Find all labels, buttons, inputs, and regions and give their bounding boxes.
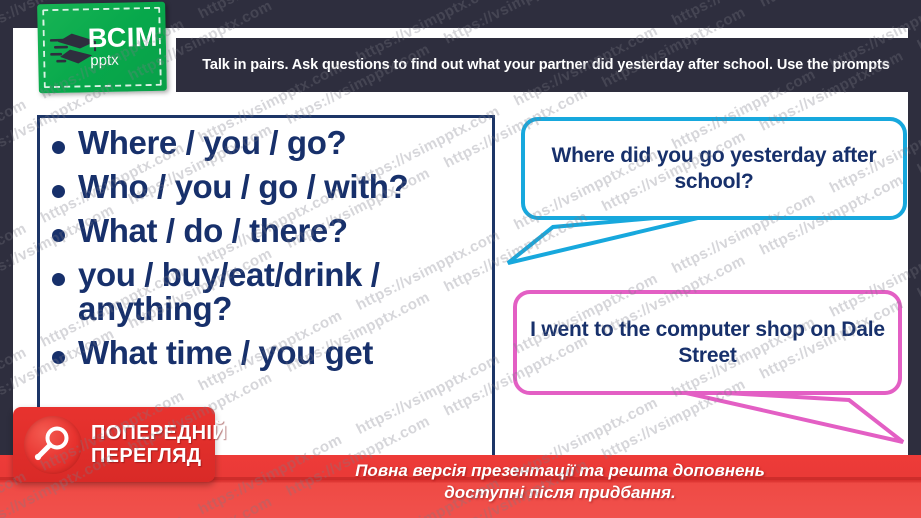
badge-labels: ПОПЕРЕДНІЙ ПЕРЕГЛЯД (91, 423, 227, 466)
badge-circle (24, 416, 82, 474)
frame-strip-left (0, 0, 13, 518)
list-item: What time / you get (50, 336, 488, 370)
prompts-list: Where / you / go? Who / you / go / with?… (40, 118, 492, 370)
logo-main-text: ВСІМ (88, 24, 159, 52)
list-item: you / buy/eat/drink / anything? (50, 258, 488, 326)
answer-bubble: I went to the computer shop on Dale Stre… (513, 290, 902, 395)
list-item: Who / you / go / with? (50, 170, 488, 204)
instruction-banner: Talk in pairs. Ask questions to find out… (176, 38, 916, 92)
logo-wordmark: ВСІМ pptx (88, 24, 159, 68)
answer-bubble-text: I went to the computer shop on Dale Stre… (517, 317, 898, 367)
vsimpptx-logo[interactable]: ВСІМ pptx (37, 2, 167, 94)
purchase-banner-text: Повна версія презентації та решта доповн… (215, 460, 905, 504)
badge-line1: ПОПЕРЕДНІЙ (91, 423, 227, 443)
slide-canvas: ВСІМ pptx Talk in pairs. Ask questions t… (0, 0, 921, 518)
question-bubble: Where did you go yesterday after school? (521, 117, 907, 220)
magnifier-icon (34, 425, 72, 463)
list-item: What / do / there? (50, 214, 488, 248)
instruction-text: Talk in pairs. Ask questions to find out… (202, 56, 890, 74)
list-item: Where / you / go? (50, 126, 488, 160)
question-bubble-text: Where did you go yesterday after school? (525, 143, 903, 193)
preview-badge[interactable]: ПОПЕРЕДНІЙ ПЕРЕГЛЯД (13, 407, 215, 482)
logo-sub-text: pptx (90, 52, 158, 68)
badge-line2: ПЕРЕГЛЯД (91, 446, 227, 466)
purchase-banner-line1: Повна версія презентації та решта доповн… (215, 460, 905, 482)
purchase-banner-line2: доступні після придбання. (215, 482, 905, 504)
